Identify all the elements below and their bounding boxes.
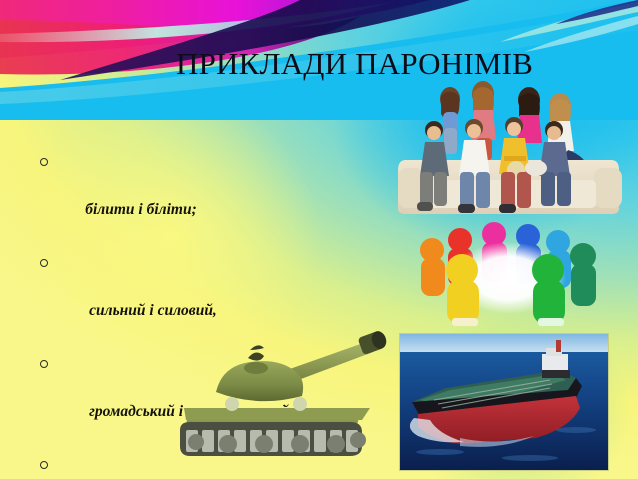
circle-outline-icon xyxy=(40,461,48,469)
circle-outline-icon xyxy=(40,360,48,368)
list-item-label: білити і біліти; xyxy=(85,201,197,218)
presentation-slide: ПРИКЛАДИ ПАРОНІМІВ білити і біліти; силь… xyxy=(0,0,638,479)
circle-outline-icon xyxy=(40,158,48,166)
oil-tanker-ship-photo xyxy=(399,333,609,471)
circle-outline-icon xyxy=(40,259,48,267)
people-on-couch-photo xyxy=(398,72,624,232)
colorful-figures-circle-image xyxy=(400,218,616,343)
list-item: білити і біліти; xyxy=(40,152,400,244)
green-tank-illustration xyxy=(170,318,402,473)
list-item-label: сильний і силовий, xyxy=(85,302,217,319)
